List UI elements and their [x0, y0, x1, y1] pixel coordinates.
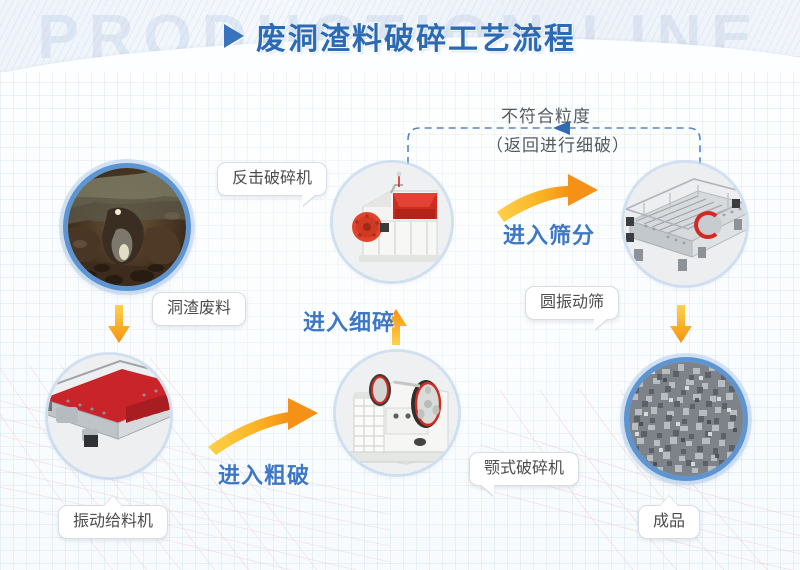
callout-vibrating-feeder[interactable]: 振动给料机 — [58, 505, 168, 539]
finished-product-circle[interactable] — [624, 357, 748, 481]
process-flow-infographic: PRODUCTION LINE 废洞渣料破碎工艺流程 不符合粒度 （返回进行细破… — [0, 0, 800, 570]
down-arrow-icon-raw-to-feeder — [108, 305, 130, 343]
jaw-crusher-photo — [336, 352, 458, 474]
step-label-to-screening: 进入筛分 — [503, 218, 595, 250]
loop-label-line1: 不符合粒度 — [501, 102, 591, 127]
callout-tail-icon — [660, 496, 678, 506]
step-label-to-coarse: 进入粗破 — [218, 458, 310, 490]
grid-fade-overlay — [0, 56, 800, 570]
loop-label-line2: （返回进行细破） — [486, 131, 630, 156]
callout-raw-material[interactable]: 洞渣废料 — [152, 292, 246, 326]
play-triangle-icon — [224, 24, 244, 48]
finished-aggregate-photo — [629, 362, 743, 476]
vibrating-screen-circle[interactable] — [624, 163, 746, 285]
page-title-row: 废洞渣料破碎工艺流程 — [0, 14, 800, 58]
callout-finished-product-label: 成品 — [653, 513, 685, 530]
impact-crusher-photo — [333, 163, 451, 281]
callout-finished-product[interactable]: 成品 — [638, 505, 700, 539]
callout-tail-icon — [594, 318, 608, 330]
callout-jaw-crusher-label: 颚式破碎机 — [484, 460, 564, 477]
callout-impact-crusher-label: 反击破碎机 — [232, 170, 312, 187]
vibrating-feeder-photo — [48, 355, 170, 477]
down-arrow-icon-screen-to-product — [670, 305, 692, 343]
callout-vibrating-screen[interactable]: 圆振动筛 — [525, 286, 619, 320]
callout-vibrating-feeder-label: 振动给料机 — [73, 513, 153, 530]
curved-right-arrow-icon-to-coarse — [208, 398, 318, 455]
raw-material-circle[interactable] — [63, 163, 191, 291]
tunnel-slag-photo — [68, 168, 186, 286]
callout-tail-icon — [480, 484, 494, 496]
circular-vibrating-screen-photo — [624, 163, 746, 285]
impact-crusher-circle[interactable] — [333, 163, 451, 281]
callout-vibrating-screen-label: 圆振动筛 — [540, 294, 604, 311]
page-title: 废洞渣料破碎工艺流程 — [256, 14, 576, 58]
callout-raw-material-label: 洞渣废料 — [167, 300, 231, 317]
step-label-to-fine: 进入细碎 — [303, 305, 395, 337]
callout-tail-icon — [302, 194, 316, 206]
vibrating-feeder-circle[interactable] — [48, 355, 170, 477]
curved-right-arrow-icon-to-screening — [497, 174, 598, 222]
callout-jaw-crusher[interactable]: 颚式破碎机 — [469, 452, 579, 486]
callout-impact-crusher[interactable]: 反击破碎机 — [217, 162, 327, 196]
callout-tail-icon — [104, 496, 122, 506]
grid-background — [0, 56, 800, 570]
jaw-crusher-circle[interactable] — [336, 352, 458, 474]
